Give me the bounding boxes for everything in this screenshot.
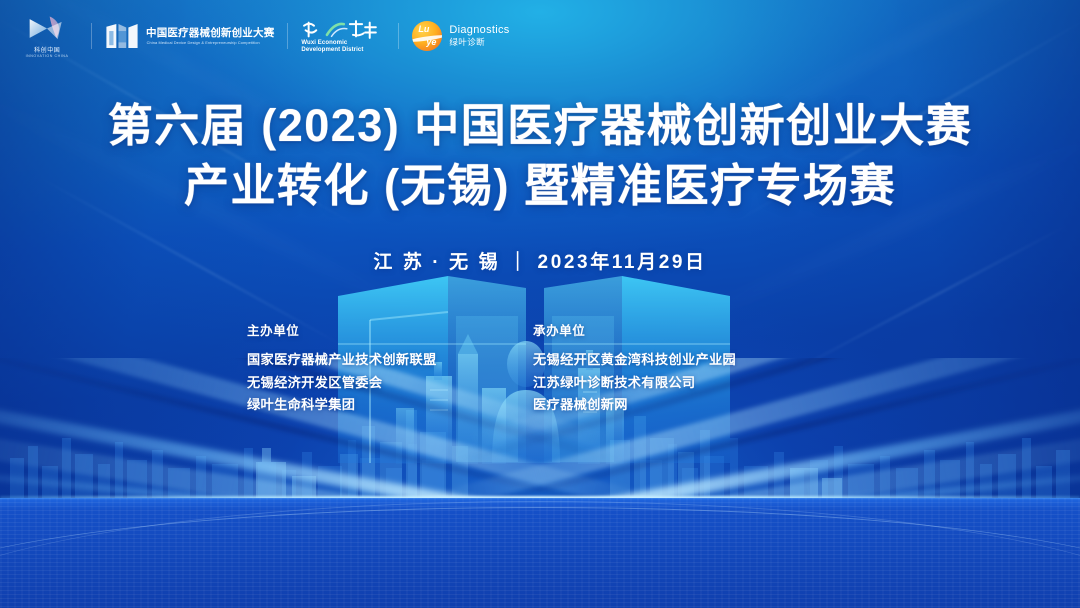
logo-innovation-china-en: INNOVATION CHINA <box>26 54 69 58</box>
logo-luye-cn: 绿叶诊断 <box>449 38 509 47</box>
host-heading: 主办单位 <box>247 320 533 339</box>
logo-luye-diagnostics[interactable]: Lu ye Diagnostics 绿叶诊断 <box>412 21 509 51</box>
luye-badge-bottom: ye <box>426 38 436 47</box>
luye-circle-mark-icon: Lu ye <box>412 21 442 51</box>
host-column: 主办单位 国家医疗器械产业技术创新联盟 无锡经济开发区管委会 绿叶生命科学集团 <box>247 320 533 417</box>
host-item: 国家医疗器械产业技术创新联盟 <box>247 349 533 372</box>
logo-wuxi-economic-development-district[interactable]: Wuxi Economic Development District <box>301 18 385 55</box>
logo-cmdc-cn: 中国医疗器械创新创业大赛 <box>146 27 274 39</box>
logo-innovation-china[interactable]: 科创中国 INNOVATION CHINA <box>16 15 78 58</box>
host-item: 无锡经济开发区管委会 <box>247 372 533 395</box>
logo-divider-3 <box>398 23 399 49</box>
cohost-item: 医疗器械创新网 <box>533 394 833 417</box>
organizers-block: 主办单位 国家医疗器械产业技术创新联盟 无锡经济开发区管委会 绿叶生命科学集团 … <box>0 320 1080 417</box>
water-arc-1 <box>0 507 1080 598</box>
logo-cmdc-en: China Medical Device Design & Entreprene… <box>147 40 274 45</box>
luye-badge-top: Lu <box>418 25 429 34</box>
event-poster: 科创中国 INNOVATION CHINA 中国医疗器械创新创业大赛 China… <box>0 0 1080 608</box>
cohost-item: 无锡经开区黄金湾科技创业产业园 <box>533 349 833 372</box>
host-item: 绿叶生命科学集团 <box>247 394 533 417</box>
logo-wuxi-en-line1: Wuxi Economic <box>301 40 347 48</box>
title-line-1: 第六届 (2023) 中国医疗器械创新创业大赛 <box>0 96 1080 156</box>
cohost-column: 承办单位 无锡经开区黄金湾科技创业产业园 江苏绿叶诊断技术有限公司 医疗器械创新… <box>533 320 833 417</box>
logo-china-medical-device-competition[interactable]: 中国医疗器械创新创业大赛 China Medical Device Design… <box>105 21 274 51</box>
water-reflection <box>0 498 1080 608</box>
partner-logo-bar: 科创中国 INNOVATION CHINA 中国医疗器械创新创业大赛 China… <box>16 14 510 58</box>
logo-luye-en: Diagnostics <box>449 25 509 37</box>
event-location-date: 江 苏 · 无 锡 ｜ 2023年11月29日 <box>0 247 1080 274</box>
cohost-heading: 承办单位 <box>533 320 833 339</box>
logo-wuxi-en-line2: Development District <box>301 47 363 55</box>
logo-divider-2 <box>287 23 288 49</box>
chinese-calligraphy-mark-icon <box>301 18 385 40</box>
cohost-item: 江苏绿叶诊断技术有限公司 <box>533 372 833 395</box>
logo-divider-1 <box>91 23 92 49</box>
logo-innovation-china-cn: 科创中国 <box>34 44 60 53</box>
title-line-2: 产业转化 (无锡) 暨精准医疗专场赛 <box>0 156 1080 216</box>
butterfly-ribbon-mark-icon <box>27 15 67 42</box>
title-block: 第六届 (2023) 中国医疗器械创新创业大赛 产业转化 (无锡) 暨精准医疗专… <box>0 96 1080 274</box>
open-door-book-mark-icon <box>105 21 139 51</box>
water-arc-2 <box>0 501 1080 608</box>
